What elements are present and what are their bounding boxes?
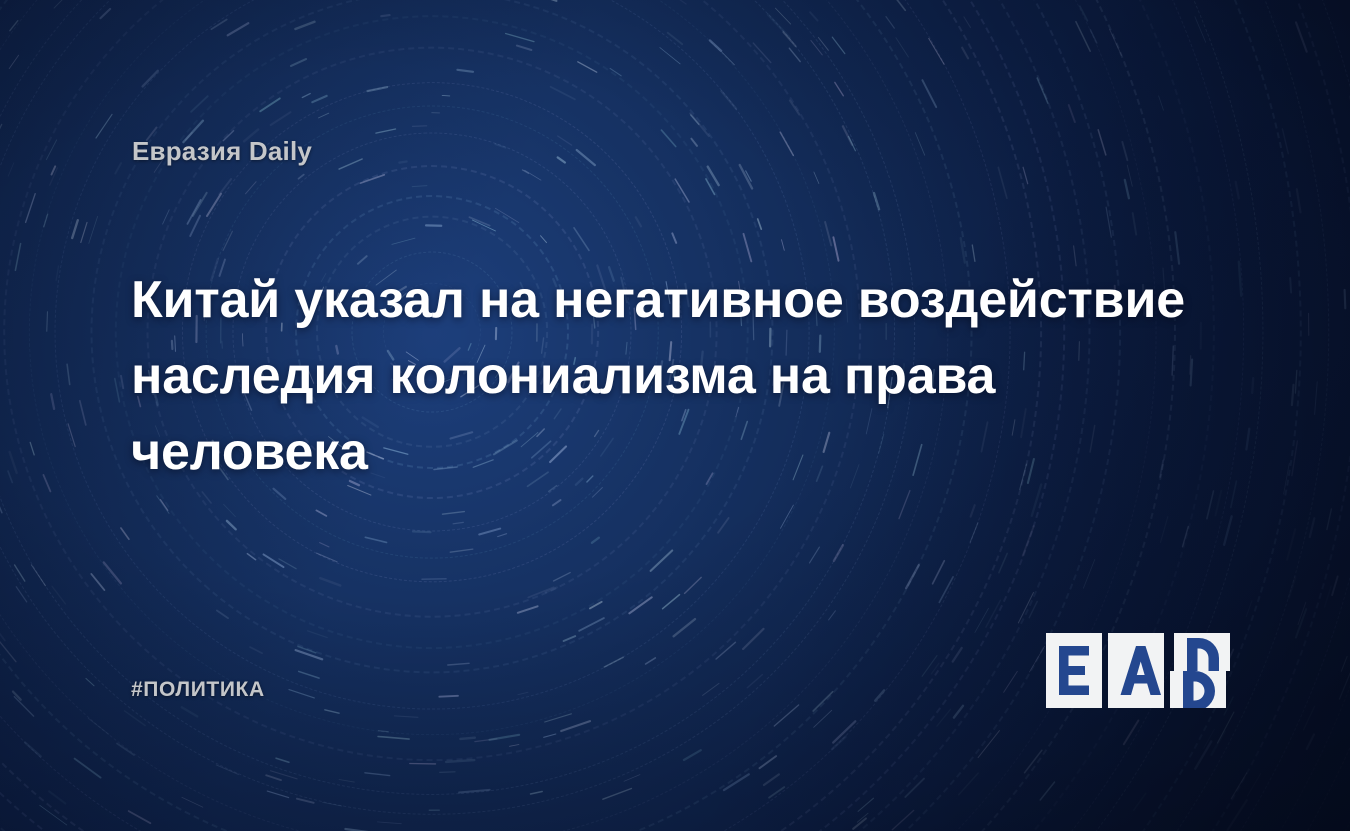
headline: Китай указал на негативное воздействие н… xyxy=(131,262,1191,490)
brand-name: Евразия Daily xyxy=(132,136,312,167)
eadaily-logo[interactable] xyxy=(1046,633,1230,708)
card-content: Евразия Daily Китай указал на негативное… xyxy=(0,0,1350,831)
category-tag[interactable]: #ПОЛИТИКА xyxy=(131,678,265,702)
eadaily-logo-icon xyxy=(1046,633,1230,708)
news-card: Евразия Daily Китай указал на негативное… xyxy=(0,0,1350,831)
